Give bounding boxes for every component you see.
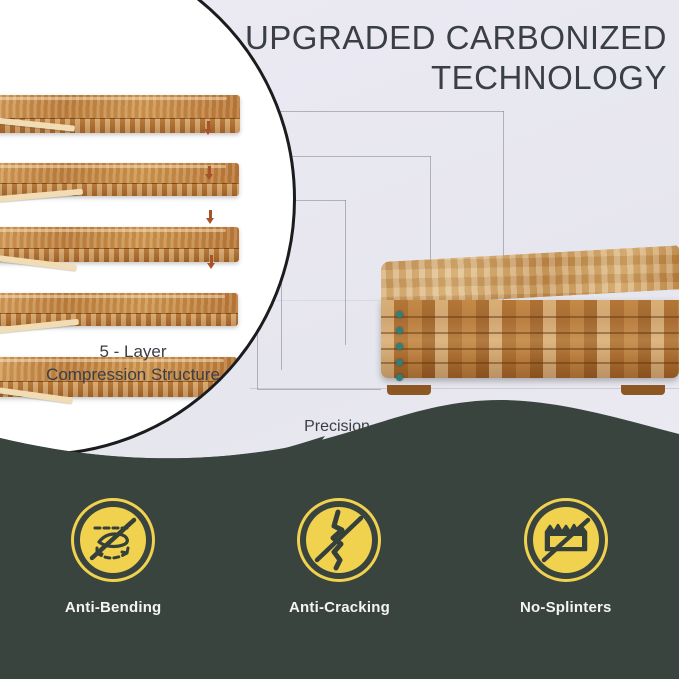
feature-list: Anti-Bending Anti-Cracking No	[0, 498, 679, 616]
board-layered-edge	[381, 300, 679, 378]
callout-caption: 5 - Layer Compression Structure	[8, 340, 258, 386]
no-bending-icon	[71, 498, 155, 582]
feature-anti-bending[interactable]: Anti-Bending	[23, 498, 203, 616]
layer-marker-2	[396, 327, 403, 334]
infographic-stage: UPGRADED CARBONIZED TECHNOLOGY 1 2 3 4 5…	[0, 0, 679, 679]
layer-marker-5	[396, 374, 403, 381]
layer-marker-3	[396, 343, 403, 350]
feature-label: Anti-Bending	[65, 599, 162, 616]
bamboo-layer-3	[0, 227, 239, 262]
board-foot-right	[621, 385, 665, 395]
feature-anti-cracking[interactable]: Anti-Cracking	[249, 498, 429, 616]
board-foot-left	[387, 385, 431, 395]
feature-label: Anti-Cracking	[289, 599, 390, 616]
layer-marker-1	[396, 311, 403, 318]
layer-marker-4	[396, 359, 403, 366]
no-splinters-icon	[524, 498, 608, 582]
bamboo-layer-4	[0, 293, 238, 326]
leader-line-3-drop	[345, 200, 346, 345]
no-cracking-icon	[297, 498, 381, 582]
product-cutting-board	[381, 262, 679, 388]
feature-no-splinters[interactable]: No-Splinters	[476, 498, 656, 616]
feature-label: No-Splinters	[520, 599, 612, 616]
layer-structure-callout	[0, 0, 296, 456]
bamboo-layer-2	[0, 163, 239, 196]
